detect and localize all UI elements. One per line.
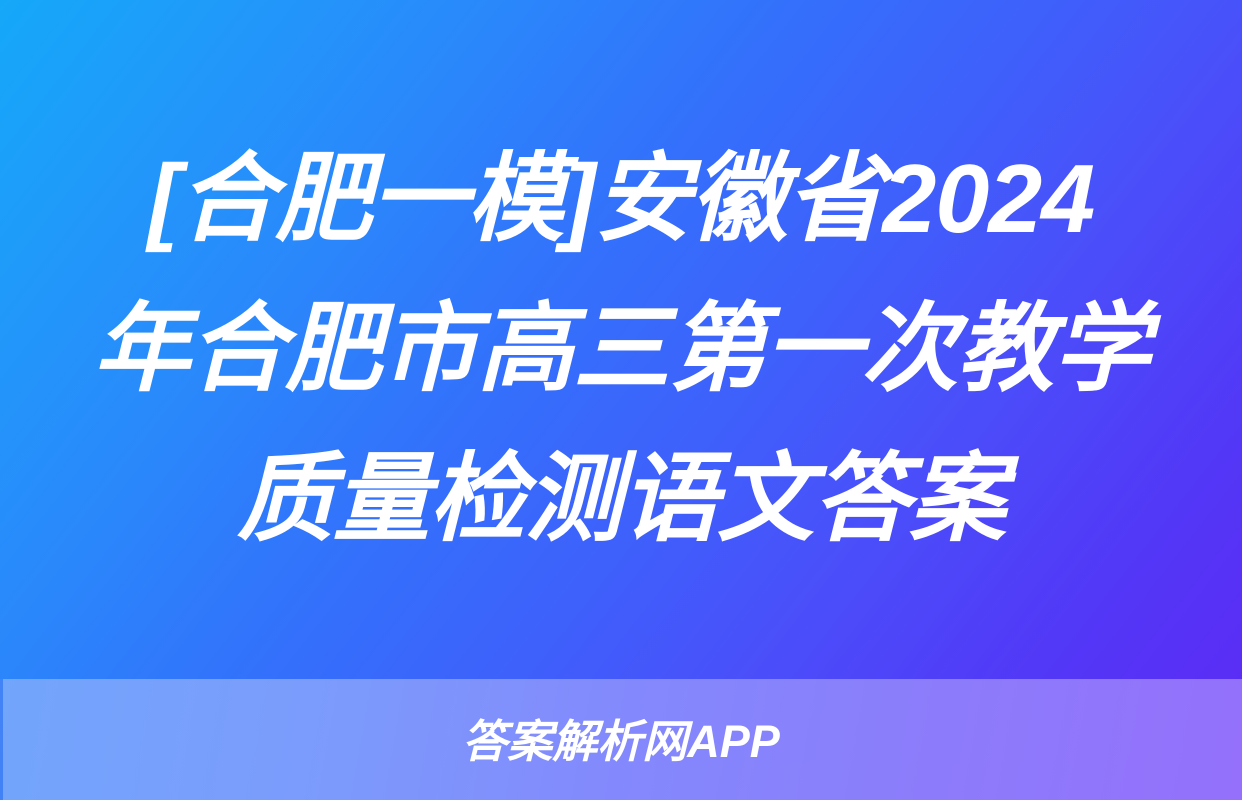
footer-watermark-band: 答案解析网APP [0, 679, 1242, 800]
promo-banner: [合肥一模]安徽省2024 年合肥市高三第一次教学 质量检测语文答案 答案解析网… [0, 0, 1242, 800]
title-line-2: 年合肥市高三第一次教学 [91, 274, 1151, 424]
title-line-3: 质量检测语文答案 [91, 424, 1151, 574]
banner-title: [合肥一模]安徽省2024 年合肥市高三第一次教学 质量检测语文答案 [91, 124, 1151, 574]
title-line-1: [合肥一模]安徽省2024 [91, 124, 1151, 274]
hero-gradient-background: [合肥一模]安徽省2024 年合肥市高三第一次教学 质量检测语文答案 [0, 0, 1242, 679]
app-watermark-label: 答案解析网APP [462, 719, 780, 764]
